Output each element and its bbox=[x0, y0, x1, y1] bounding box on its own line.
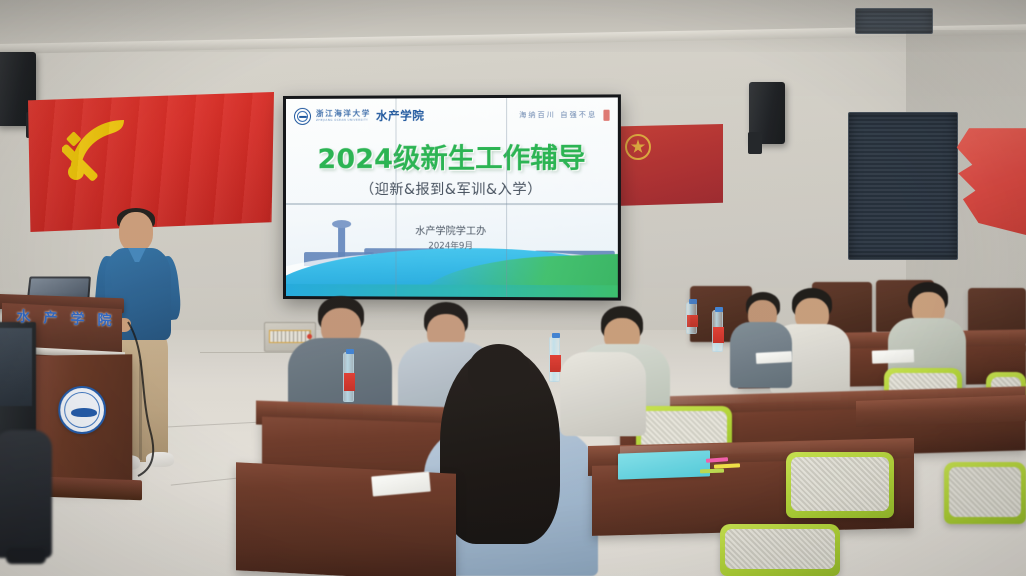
person-bottom-left-sandal bbox=[6, 548, 46, 564]
paper-sheet bbox=[756, 351, 793, 364]
presenter-head bbox=[119, 212, 153, 252]
ceiling-vent bbox=[855, 8, 933, 34]
audience-torso bbox=[560, 352, 646, 436]
video-wall[interactable]: 浙江海洋大学 ZHEJIANG OCEAN UNIVERSITY 水产学院 海纳… bbox=[283, 94, 621, 300]
water-bottle[interactable] bbox=[712, 310, 723, 352]
slide-subtitle: （迎新&报到&军训&入学） bbox=[286, 179, 618, 199]
bottle-cap bbox=[552, 333, 560, 338]
bottle-cap bbox=[689, 299, 697, 304]
bottle-cap bbox=[346, 349, 354, 354]
cpc-party-flag bbox=[28, 92, 274, 232]
university-seal bbox=[58, 386, 106, 434]
classroom-photo: 浙江海洋大学 ZHEJIANG OCEAN UNIVERSITY 水产学院 海纳… bbox=[0, 0, 1026, 576]
star-in-circle-icon bbox=[625, 134, 651, 160]
podium-label-char: 水 bbox=[17, 306, 31, 327]
water-bottle[interactable] bbox=[549, 336, 560, 382]
podium-label-char: 产 bbox=[44, 307, 58, 328]
slide-organization: 水产学院学工办 bbox=[286, 222, 618, 238]
university-name-en: ZHEJIANG OCEAN UNIVERSITY bbox=[316, 118, 371, 122]
communist-youth-league-flag bbox=[613, 124, 723, 206]
water-bottle[interactable] bbox=[343, 352, 354, 402]
hammer-and-sickle-icon bbox=[62, 114, 138, 184]
university-logo-icon bbox=[294, 107, 311, 124]
marker-green[interactable] bbox=[700, 469, 724, 474]
water-bottle[interactable] bbox=[686, 302, 697, 334]
chair-green[interactable] bbox=[944, 462, 1026, 524]
university-name-block: 浙江海洋大学 ZHEJIANG OCEAN UNIVERSITY bbox=[316, 110, 371, 122]
presenter-leg-seam bbox=[139, 360, 142, 460]
video-wall-bezel bbox=[286, 203, 618, 205]
slide-date: 2024年9月 bbox=[286, 239, 618, 252]
presentation-slide: 浙江海洋大学 ZHEJIANG OCEAN UNIVERSITY 水产学院 海纳… bbox=[286, 97, 618, 297]
control-monitor[interactable] bbox=[0, 322, 36, 440]
bottle-label bbox=[713, 327, 724, 343]
college-name: 水产学院 bbox=[376, 107, 424, 123]
podium-label-char: 学 bbox=[71, 308, 85, 329]
bottle-label bbox=[550, 355, 561, 372]
speaker-bracket-right bbox=[748, 132, 762, 154]
audience-head bbox=[468, 344, 530, 396]
bottle-cap bbox=[715, 307, 723, 312]
chair-green[interactable] bbox=[720, 524, 840, 576]
bottle-label bbox=[687, 315, 698, 327]
university-motto-block: 海纳百川 自强不息 bbox=[519, 109, 609, 120]
chair-green[interactable] bbox=[786, 452, 894, 518]
window-blind-right bbox=[848, 112, 958, 260]
motto-accent bbox=[603, 109, 609, 120]
university-name: 浙江海洋大学 bbox=[316, 110, 371, 118]
paper-sheet bbox=[872, 349, 914, 363]
bottle-label bbox=[344, 373, 355, 391]
slide-title: 2024级新生工作辅导 bbox=[286, 136, 618, 176]
presenter-shoe-right bbox=[146, 452, 174, 467]
person-bottom-left bbox=[0, 430, 52, 558]
notebook[interactable] bbox=[618, 450, 710, 479]
podium-label-char: 院 bbox=[98, 310, 112, 331]
university-motto: 海纳百川 自强不息 bbox=[519, 110, 597, 120]
slide-header: 浙江海洋大学 ZHEJIANG OCEAN UNIVERSITY 水产学院 海纳… bbox=[294, 104, 610, 127]
